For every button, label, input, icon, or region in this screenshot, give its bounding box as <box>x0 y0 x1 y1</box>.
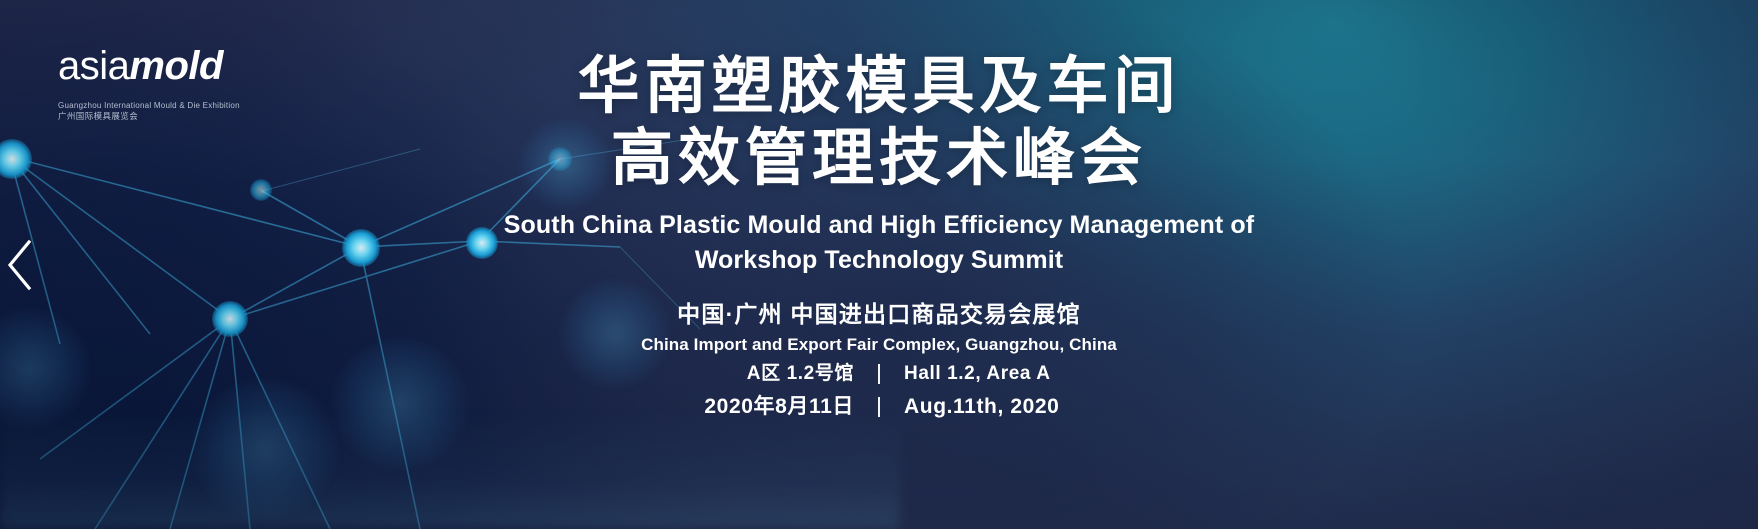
title-cn-line2: 高效管理技术峰会 <box>611 124 1147 194</box>
chevron-left-icon <box>6 238 34 292</box>
title-en-line2: Workshop Technology Summit <box>695 243 1063 278</box>
hall-cn: A区 1.2号馆 <box>664 361 854 387</box>
hall-divider <box>878 364 880 384</box>
venue-en: China Import and Export Fair Complex, Gu… <box>641 333 1117 357</box>
date-divider <box>878 397 880 417</box>
event-banner-slide: asiamold Guangzhou International Mould &… <box>0 0 1758 529</box>
date-cn: 2020年8月11日 <box>664 393 854 421</box>
venue-cn: 中国·广州 中国进出口商品交易会展馆 <box>677 299 1081 329</box>
hall-en: Hall 1.2, Area A <box>904 361 1094 387</box>
hall-row: A区 1.2号馆 Hall 1.2, Area A <box>664 361 1094 387</box>
date-row: 2020年8月11日 Aug.11th, 2020 <box>664 393 1094 421</box>
date-en: Aug.11th, 2020 <box>904 393 1094 421</box>
title-en-line1: South China Plastic Mould and High Effic… <box>504 208 1254 243</box>
banner-content: 华南塑胶模具及车间 高效管理技术峰会 South China Plastic M… <box>0 0 1758 529</box>
title-cn-line1: 华南塑胶模具及车间 <box>577 52 1180 122</box>
carousel-prev-button[interactable] <box>0 230 40 300</box>
